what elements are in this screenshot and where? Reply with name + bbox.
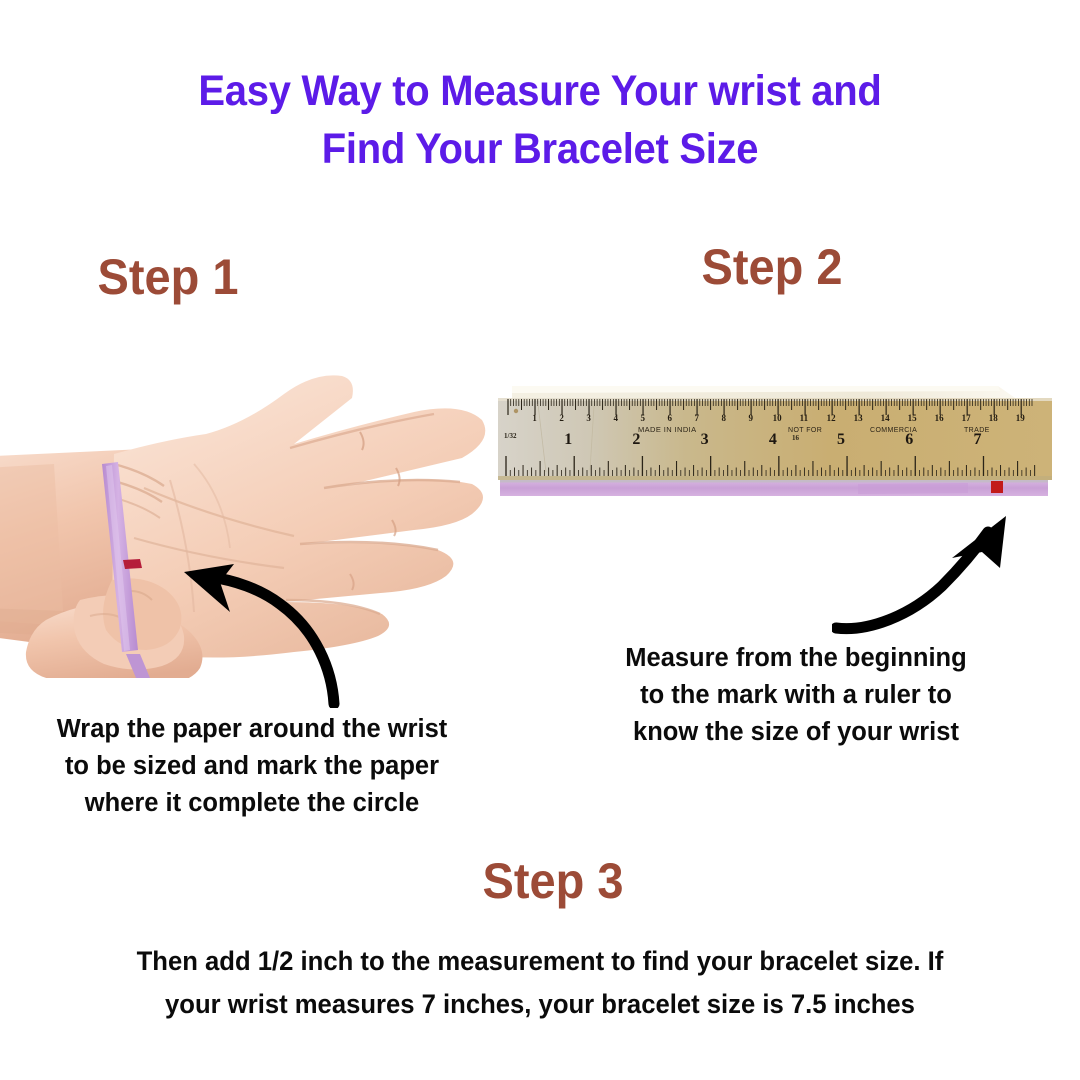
page-title-line-2: Find Your Bracelet Size <box>38 120 1042 178</box>
ruler-cm-label: 11 <box>800 413 809 423</box>
step-1-caption-line-2: to be sized and mark the paper <box>22 748 482 785</box>
step-1-caption-line-1: Wrap the paper around the wrist <box>22 711 482 748</box>
step-3-caption: Then add 1/2 inch to the measurement to … <box>84 940 996 1026</box>
ruler-cm-label: 10 <box>773 413 783 423</box>
ruler-cm-label: 1 <box>532 413 537 423</box>
strip-red-mark <box>991 481 1003 493</box>
ruler-cm-label: 17 <box>962 413 972 423</box>
ruler-cm-label: 14 <box>881 413 891 423</box>
ruler-cm-label: 13 <box>854 413 864 423</box>
ruler-inch-label: 5 <box>837 431 845 448</box>
step-2-caption-line-3: know the size of your wrist <box>582 714 1010 751</box>
step-3-heading: Step 3 <box>483 856 624 906</box>
ruler-commercial-text: COMMERCIA <box>870 427 917 434</box>
ruler-cm-label: 5 <box>640 413 645 423</box>
ruler-cm-label: 7 <box>694 413 699 423</box>
step-3-caption-line-1: Then add 1/2 inch to the measurement to … <box>84 940 996 983</box>
ruler-cm-label: 2 <box>559 413 564 423</box>
step-2-caption-line-2: to the mark with a ruler to <box>582 677 1010 714</box>
ruler-cm-label: 9 <box>748 413 753 423</box>
ruler-inch-label: 1 <box>564 431 572 448</box>
step-2-caption: Measure from the beginning to the mark w… <box>582 640 1010 751</box>
ruler-cm-label: 19 <box>1016 413 1025 423</box>
arrow-to-ruler-mark-icon <box>832 512 1017 642</box>
ruler-inch-label: 3 <box>701 431 709 448</box>
ruler-cm-label: 16 <box>935 413 945 423</box>
ruler-not-for-text: NOT FOR <box>788 427 822 434</box>
arrow-to-wrist-mark-icon <box>176 558 356 708</box>
ruler-fraction-label: 1/32 <box>504 432 517 440</box>
ruler-inch-label: 4 <box>769 431 777 448</box>
step-3-caption-line-2: your wrist measures 7 inches, your brace… <box>84 983 996 1026</box>
ruler-measuring-strip-image: 12345678910111213141516171819 1234567 1/… <box>498 384 1052 498</box>
ruler-cm-label: 12 <box>827 413 837 423</box>
ruler-cm-label: 6 <box>667 413 672 423</box>
ruler-cm-label: 3 <box>586 413 591 423</box>
ruler-cm-label: 18 <box>989 413 999 423</box>
step-2-heading: Step 2 <box>702 242 843 292</box>
step-2-caption-line-1: Measure from the beginning <box>582 640 1010 677</box>
step-1-caption-line-3: where it complete the circle <box>22 785 482 822</box>
ruler-trade-text: TRADE <box>964 427 990 434</box>
ruler-inch-sub-label: 16 <box>792 434 800 442</box>
ruler-cm-label: 4 <box>613 413 618 423</box>
ruler-cm-label: 15 <box>908 413 918 423</box>
step-1-heading: Step 1 <box>98 252 239 302</box>
ruler-made-in-india-text: MADE IN INDIA <box>638 425 697 434</box>
page-title: Easy Way to Measure Your wrist and Find … <box>38 62 1042 178</box>
step-1-caption: Wrap the paper around the wrist to be si… <box>22 711 482 822</box>
infographic-canvas: Easy Way to Measure Your wrist and Find … <box>0 0 1080 1080</box>
page-title-line-1: Easy Way to Measure Your wrist and <box>38 62 1042 120</box>
ruler-cm-label: 8 <box>721 413 726 423</box>
